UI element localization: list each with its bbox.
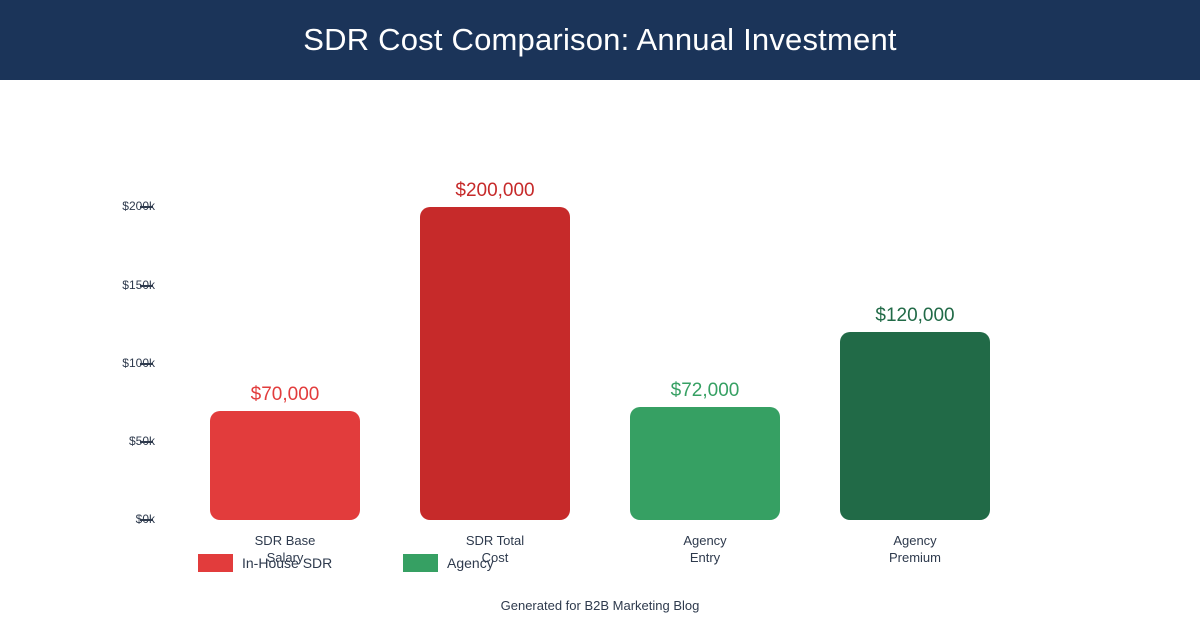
- page-title: SDR Cost Comparison: Annual Investment: [0, 0, 1200, 80]
- bar-4[interactable]: [840, 332, 990, 520]
- footer-note: Generated for B2B Marketing Blog: [0, 596, 1200, 616]
- y-axis-tick-mark: [140, 285, 153, 287]
- y-axis-tick-mark: [140, 519, 153, 521]
- legend-swatch-icon: [403, 554, 438, 572]
- bar-1[interactable]: [210, 411, 360, 520]
- x-axis-category-line: Agency: [615, 532, 795, 549]
- plot-area: $0k$50k$100k$150k$200k $70,000SDR BaseSa…: [0, 80, 1200, 630]
- bar-3[interactable]: [630, 407, 780, 520]
- x-axis-category-line: SDR Total: [405, 532, 585, 549]
- chart-legend: In-House SDRAgency: [0, 552, 1200, 574]
- x-axis-category-line: SDR Base: [195, 532, 375, 549]
- legend-swatch-icon: [198, 554, 233, 572]
- bar-value-label: $72,000: [615, 379, 795, 403]
- legend-label: In-House SDR: [242, 552, 332, 574]
- legend-label: Agency: [447, 552, 494, 574]
- bar-2[interactable]: [420, 207, 570, 520]
- y-axis-tick-mark: [140, 441, 153, 443]
- bar-value-label: $200,000: [405, 179, 585, 203]
- header-bar: SDR Cost Comparison: Annual Investment: [0, 0, 1200, 80]
- x-axis-category-line: Agency: [825, 532, 1005, 549]
- y-axis-tick-mark: [140, 206, 153, 208]
- bar-value-label: $120,000: [825, 304, 1005, 328]
- chart-page: SDR Cost Comparison: Annual Investment $…: [0, 0, 1200, 630]
- y-axis-tick-mark: [140, 363, 153, 365]
- bar-value-label: $70,000: [195, 383, 375, 407]
